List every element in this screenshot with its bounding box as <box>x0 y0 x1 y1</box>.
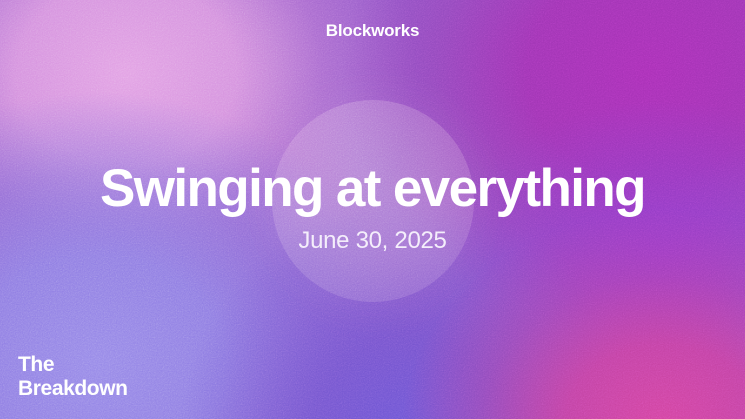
episode-headline: Swinging at everything <box>0 162 745 215</box>
episode-date: June 30, 2025 <box>0 228 745 254</box>
show-title: The Breakdown <box>18 353 128 401</box>
podcast-cover-card: Blockworks Swinging at everything June 3… <box>0 0 745 419</box>
blockworks-wordmark: Blockworks <box>0 21 745 41</box>
show-title-line-1: The <box>18 353 128 377</box>
content-layer: Blockworks Swinging at everything June 3… <box>0 0 745 419</box>
show-title-line-2: Breakdown <box>18 377 128 401</box>
